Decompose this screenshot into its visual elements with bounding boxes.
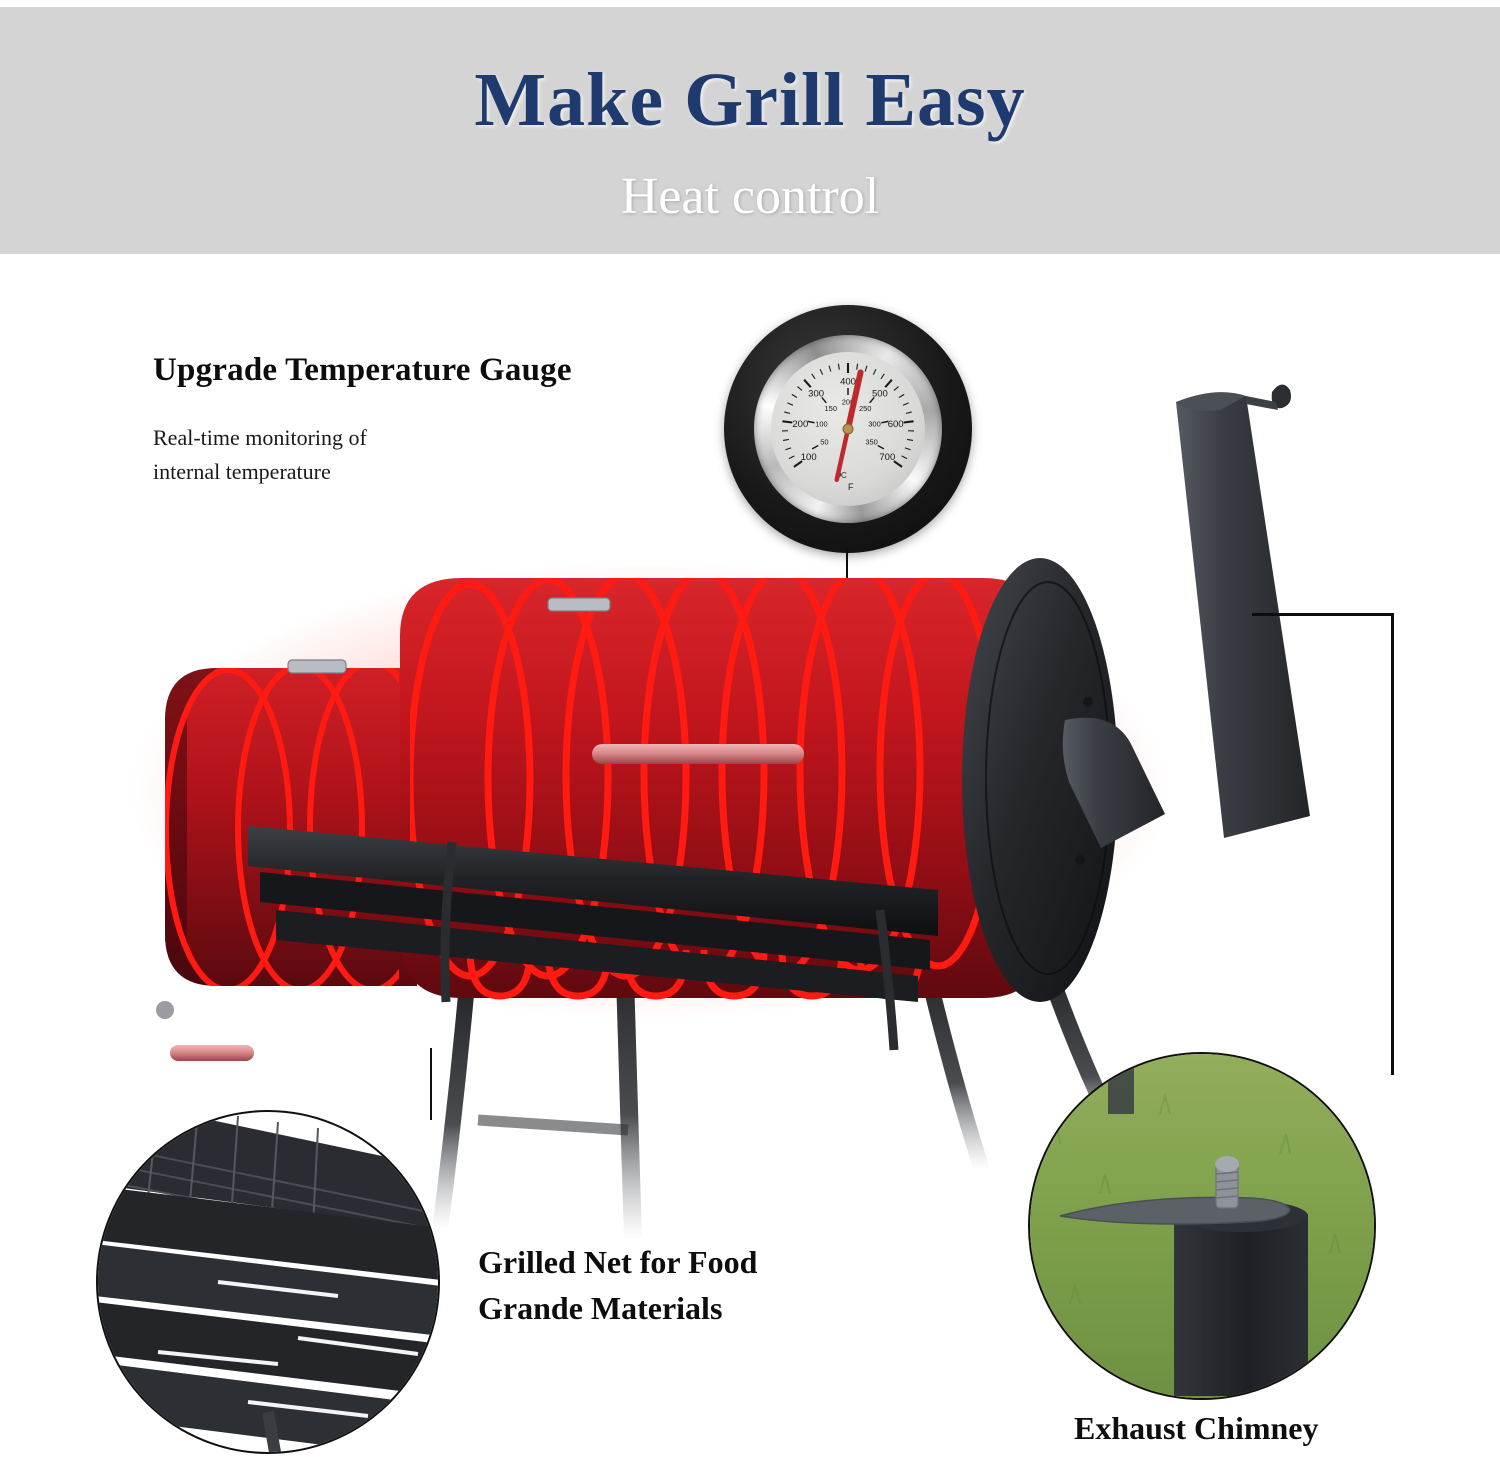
chimney-stack (1176, 396, 1310, 838)
chimney-leader-horizontal (1252, 613, 1394, 616)
exhaust-chimney (1063, 384, 1310, 848)
main-lid-handle (592, 744, 804, 764)
callout-title-grilled-net: Grilled Net for Food Grande Materials (478, 1239, 958, 1331)
smoker-side-bolt (156, 1001, 174, 1019)
chimney-leader-vertical (1391, 613, 1394, 1075)
main-lid-hinge-left (548, 598, 610, 611)
leg-crossbar (478, 1120, 628, 1130)
chimney-pipe-body (1174, 1214, 1308, 1396)
page-subtitle: Heat control (0, 167, 1500, 226)
grilled-net-svg (98, 1112, 438, 1452)
end-cap-bolt-top (1083, 697, 1093, 707)
header-banner-inner: Make Grill Easy Heat control (0, 7, 1500, 254)
end-cap-bolt-bottom (1075, 855, 1085, 865)
smoker-lid-hinge (288, 660, 346, 673)
chimney-closeup-svg (1030, 1054, 1374, 1398)
callout-grilled-net-line-1: Grilled Net for Food (478, 1239, 958, 1285)
grilled-net-closeup (96, 1110, 440, 1454)
callout-title-exhaust-chimney: Exhaust Chimney (1074, 1410, 1319, 1447)
damper-knob (1215, 1156, 1239, 1172)
exhaust-chimney-closeup (1028, 1052, 1376, 1400)
header-banner: Make Grill Easy Heat control (0, 7, 1500, 254)
net-support-post (268, 1412, 276, 1452)
grill-net-leader-line (430, 1048, 432, 1120)
smoker-lid-handle (170, 1045, 254, 1061)
page-title: Make Grill Easy (0, 57, 1500, 144)
callout-grilled-net-line-2: Grande Materials (478, 1285, 958, 1331)
